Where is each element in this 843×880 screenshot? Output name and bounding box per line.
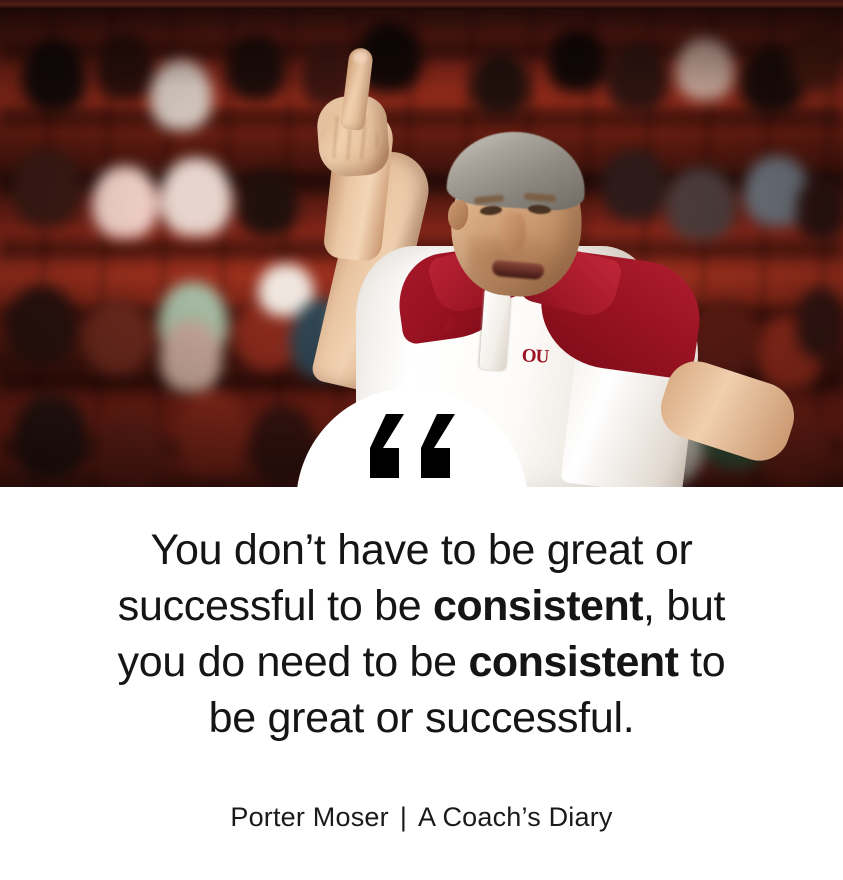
quote-emphasis-2: consistent [468, 638, 678, 686]
jumpman-logo-icon [440, 315, 457, 336]
quote-line-2-post: , but [643, 582, 725, 630]
coach-nose [500, 212, 526, 254]
quote-text-area: You don’t have to be great or successful… [0, 487, 843, 880]
quote-emphasis-1: consistent [433, 582, 643, 630]
quote-line-4: be great or successful. [209, 694, 635, 742]
coach-hair [446, 127, 589, 212]
attribution: Porter Moser|A Coach’s Diary [0, 800, 843, 834]
quote-mark-icon [368, 414, 406, 478]
quote-marks-group [368, 414, 457, 478]
quote-text: You don’t have to be great or successful… [0, 522, 843, 746]
quote-line-2-pre: successful to be [118, 582, 433, 630]
attribution-separator: | [389, 802, 418, 832]
quote-line-3-pre: you do need to be [118, 638, 469, 686]
photo-top-edge-line [0, 0, 843, 9]
quote-line-3-post: to [678, 638, 725, 686]
quote-mark-icon [419, 414, 457, 478]
coach-photo: OU [0, 0, 843, 489]
attribution-source: A Coach’s Diary [418, 802, 613, 832]
ou-school-logo: OU [517, 345, 552, 369]
attribution-author: Porter Moser [230, 802, 388, 832]
quote-card: OU You don’t have to be great or [0, 0, 843, 880]
quote-line-1: You don’t have to be great or [151, 526, 693, 574]
